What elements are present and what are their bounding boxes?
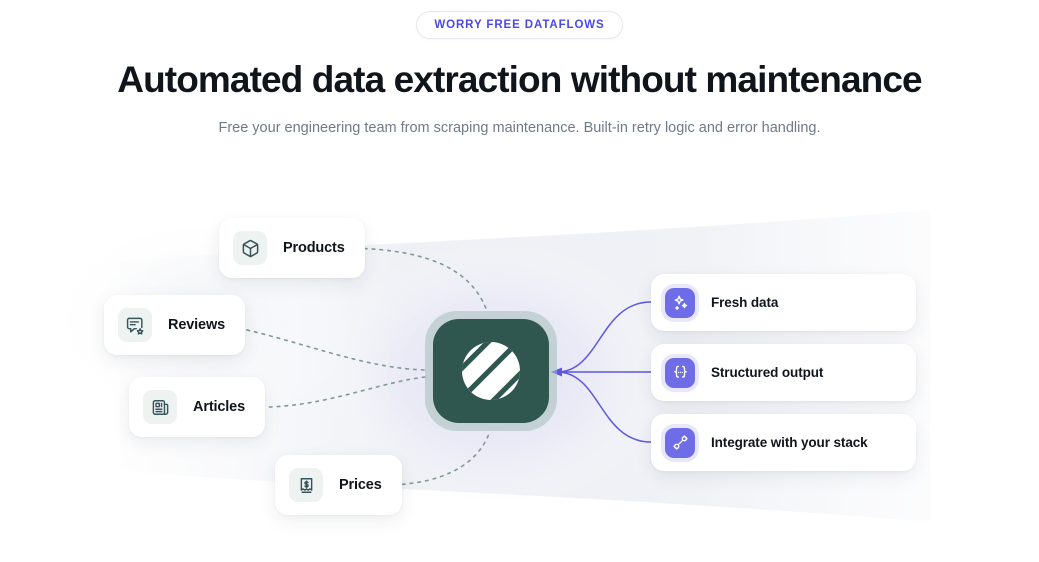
price-tag-icon: [289, 468, 323, 502]
source-card-label: Articles: [193, 399, 245, 415]
output-card-label: Structured output: [711, 365, 823, 380]
hero-section: WORRY FREE DATAFLOWS Automated data extr…: [0, 0, 1039, 562]
source-card-label: Products: [283, 240, 345, 256]
box-icon: [233, 231, 267, 265]
striped-circle-logo-icon: [460, 340, 522, 402]
chat-star-icon: [118, 308, 152, 342]
badge-row: WORRY FREE DATAFLOWS: [0, 11, 1039, 39]
central-hub: Platform logo: [425, 311, 557, 431]
hero-header: WORRY FREE DATAFLOWS Automated data extr…: [0, 0, 1039, 138]
output-card-label: Integrate with your stack: [711, 435, 868, 450]
page-subtitle: Free your engineering team from scraping…: [0, 118, 1039, 138]
hub-logo-plate: Platform logo: [433, 319, 549, 423]
page-title: Automated data extraction without mainte…: [0, 58, 1039, 102]
output-card-fresh-data[interactable]: Fresh data: [651, 274, 916, 331]
source-card-label: Reviews: [168, 317, 225, 333]
sparkles-icon: [665, 288, 695, 318]
dataflow-diagram: Platform logo Products R: [0, 170, 1039, 562]
output-card-label: Fresh data: [711, 295, 778, 310]
output-card-integrate[interactable]: Integrate with your stack: [651, 414, 916, 471]
source-card-prices[interactable]: Prices: [275, 455, 402, 515]
output-card-structured-output[interactable]: Structured output: [651, 344, 916, 401]
source-card-articles[interactable]: Articles: [129, 377, 265, 437]
source-card-label: Prices: [339, 477, 382, 493]
eyebrow-badge: WORRY FREE DATAFLOWS: [416, 11, 622, 39]
source-card-products[interactable]: Products: [219, 218, 365, 278]
plug-connector-icon: [665, 428, 695, 458]
curly-braces-icon: [665, 358, 695, 388]
source-card-reviews[interactable]: Reviews: [104, 295, 245, 355]
newspaper-icon: [143, 390, 177, 424]
